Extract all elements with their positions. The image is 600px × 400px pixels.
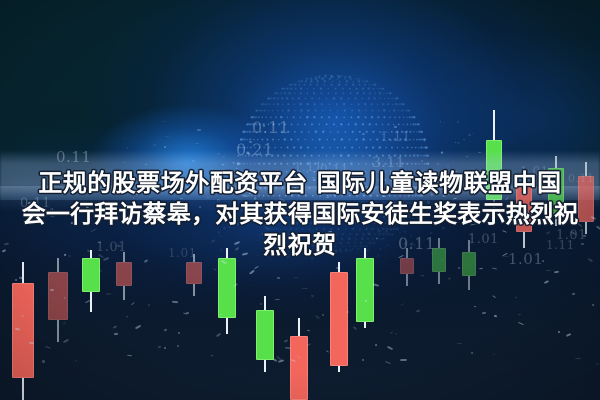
headline-text: 正规的股票场外配资平台 国际儿童读物联盟中国 会一行拜访蔡皋，对其获得国际安徒生… xyxy=(0,168,600,261)
banner-image: 0.110.111.011.010.110.110.211.110.111.11… xyxy=(0,0,600,400)
headline-line-3: 烈祝贺 xyxy=(0,230,600,261)
headline-line-1: 正规的股票场外配资平台 国际儿童读物联盟中国 xyxy=(0,168,600,199)
headline-line-2: 会一行拜访蔡皋，对其获得国际安徒生奖表示热烈祝 xyxy=(0,199,600,230)
